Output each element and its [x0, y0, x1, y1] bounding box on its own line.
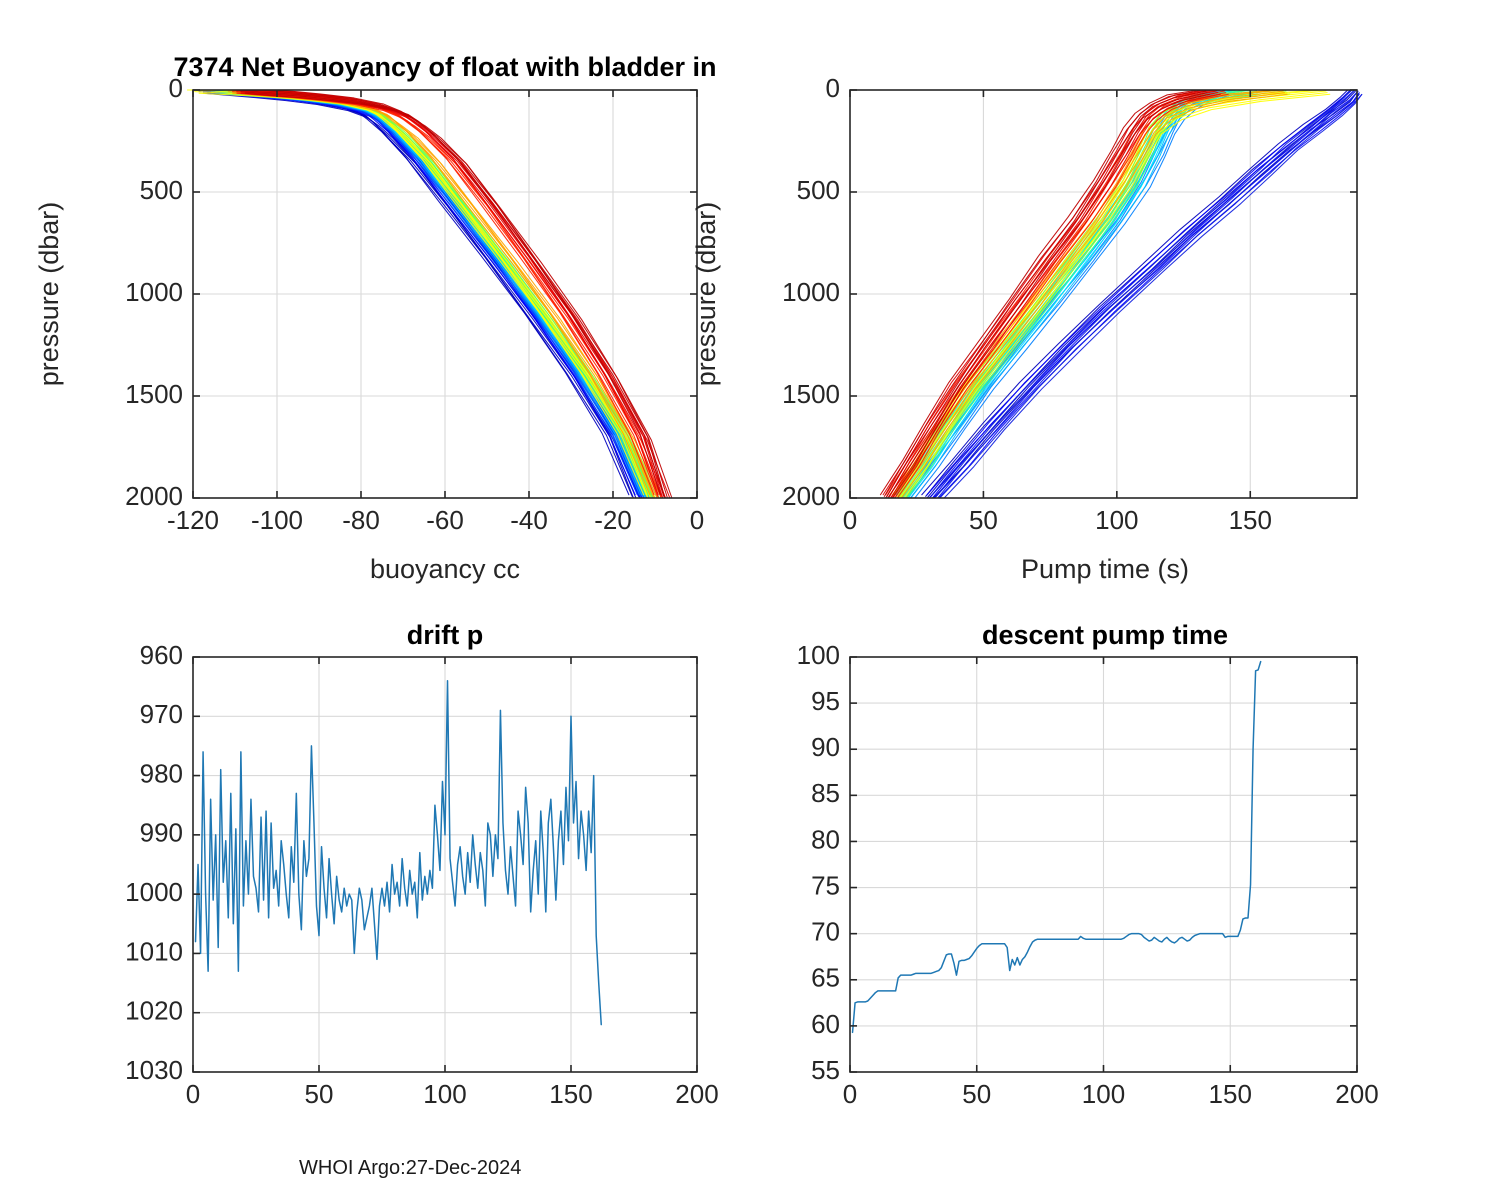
svg-text:990: 990 [140, 818, 183, 848]
svg-text:-40: -40 [510, 505, 548, 535]
net-buoyancy-chart: 7374 Net Buoyancy of float with bladder … [0, 30, 740, 590]
svg-text:90: 90 [811, 732, 840, 762]
svg-text:200: 200 [1335, 1079, 1378, 1109]
gridlines [850, 657, 1357, 1072]
svg-text:-20: -20 [594, 505, 632, 535]
svg-text:0: 0 [169, 73, 183, 103]
svg-text:50: 50 [962, 1079, 991, 1109]
svg-text:100: 100 [423, 1079, 466, 1109]
svg-text:150: 150 [1209, 1079, 1252, 1109]
panel-descent-pump-time: descent pump time 0501001502005560657075… [660, 600, 1400, 1120]
svg-text:2000: 2000 [125, 481, 183, 511]
gridlines [193, 657, 697, 1072]
tick-labels: -120-100-80-60-40-2000500100015002000 [125, 73, 704, 535]
panel-title-drift-p: drift p [407, 620, 483, 650]
matlab-figure: 7374 Net Buoyancy of float with bladder … [0, 0, 1500, 1200]
svg-text:960: 960 [140, 640, 183, 670]
svg-text:50: 50 [305, 1079, 334, 1109]
svg-text:55: 55 [811, 1055, 840, 1085]
descent-pump-time-chart: descent pump time 0501001502005560657075… [660, 600, 1400, 1120]
svg-text:0: 0 [186, 1079, 200, 1109]
svg-text:1000: 1000 [125, 277, 183, 307]
svg-text:2000: 2000 [782, 481, 840, 511]
svg-text:100: 100 [1095, 505, 1138, 535]
svg-text:1500: 1500 [125, 379, 183, 409]
panel-drift-p: drift p 05010015020096097098099010001010… [0, 600, 740, 1120]
svg-text:95: 95 [811, 686, 840, 716]
svg-text:970: 970 [140, 699, 183, 729]
xlabel-pump-time: Pump time (s) [1021, 554, 1189, 584]
svg-text:-80: -80 [342, 505, 380, 535]
svg-text:1030: 1030 [125, 1055, 183, 1085]
svg-text:1010: 1010 [125, 936, 183, 966]
svg-text:0: 0 [843, 1079, 857, 1109]
svg-text:0: 0 [843, 505, 857, 535]
panel-title-net-buoyancy: 7374 Net Buoyancy of float with bladder … [173, 52, 716, 82]
svg-text:-60: -60 [426, 505, 464, 535]
svg-text:70: 70 [811, 917, 840, 947]
svg-text:75: 75 [811, 870, 840, 900]
svg-text:100: 100 [1082, 1079, 1125, 1109]
svg-text:100: 100 [797, 640, 840, 670]
panel-title-descent-pump-time: descent pump time [982, 620, 1228, 650]
svg-text:150: 150 [549, 1079, 592, 1109]
svg-text:1020: 1020 [125, 996, 183, 1026]
svg-text:980: 980 [140, 758, 183, 788]
series-line [196, 681, 602, 1025]
figure-footer: WHOI Argo:27-Dec-2024 [299, 1157, 521, 1180]
svg-text:150: 150 [1229, 505, 1272, 535]
panel-pump-time: 0501001500500100015002000 Pump time (s) … [660, 30, 1400, 590]
tick-labels: 050100150200556065707580859095100 [797, 640, 1379, 1109]
svg-text:0: 0 [826, 73, 840, 103]
svg-text:1500: 1500 [782, 379, 840, 409]
pump-time-chart: 0501001500500100015002000 Pump time (s) … [660, 30, 1400, 590]
ylabel-pressure: pressure (dbar) [691, 202, 721, 387]
svg-text:-100: -100 [251, 505, 303, 535]
series-line [853, 662, 1261, 1033]
drift-p-chart: drift p 05010015020096097098099010001010… [0, 600, 740, 1120]
svg-text:80: 80 [811, 824, 840, 854]
svg-text:65: 65 [811, 963, 840, 993]
svg-text:85: 85 [811, 778, 840, 808]
svg-text:60: 60 [811, 1009, 840, 1039]
svg-text:1000: 1000 [125, 877, 183, 907]
svg-text:50: 50 [969, 505, 998, 535]
panel-net-buoyancy: 7374 Net Buoyancy of float with bladder … [0, 30, 740, 590]
svg-text:1000: 1000 [782, 277, 840, 307]
xlabel-buoyancy: buoyancy cc [370, 554, 520, 584]
svg-text:500: 500 [797, 175, 840, 205]
ylabel-pressure: pressure (dbar) [34, 202, 64, 387]
svg-text:500: 500 [140, 175, 183, 205]
